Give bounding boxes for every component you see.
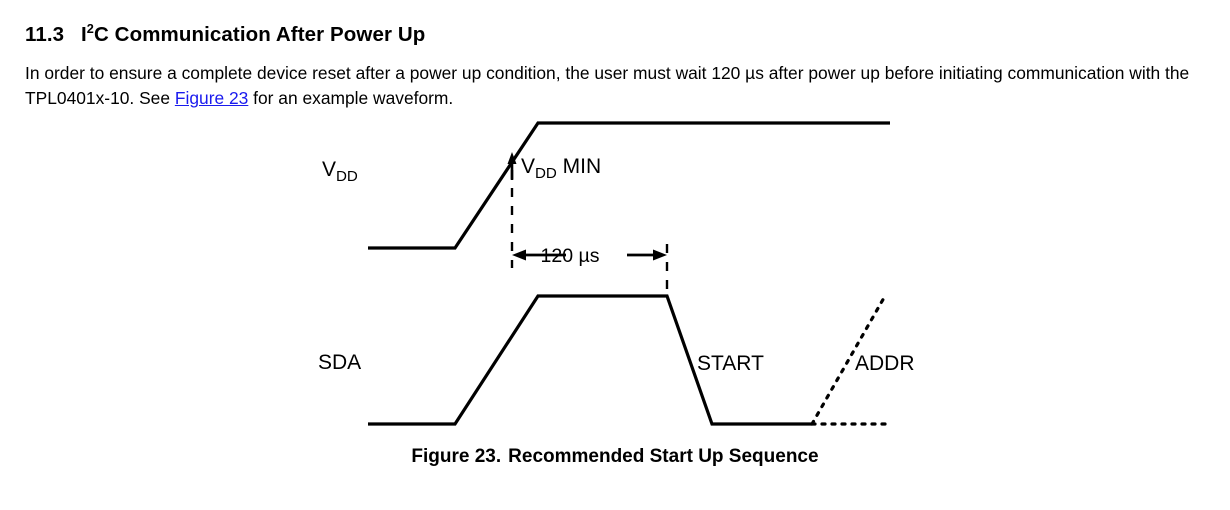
vdd-label-v: V (322, 158, 336, 181)
section-number: 11.3 (25, 23, 81, 47)
addr-label: ADDR (855, 352, 915, 375)
waveform-svg: VDD VDD MIN 120 µs SDA START ADDR (0, 100, 1230, 450)
vdd-waveform-trace (368, 123, 890, 248)
timing-label: 120 µs (541, 245, 600, 267)
sda-label: SDA (318, 351, 361, 374)
figure-caption: Figure 23.Recommended Start Up Sequence (0, 446, 1230, 468)
section-title-post: C Communication After Power Up (94, 23, 425, 46)
vdd-min-label-suffix: MIN (557, 155, 601, 178)
section-title-superscript: 2 (87, 21, 94, 36)
vdd-min-label-sub: DD (535, 165, 557, 182)
timing-unit: µs (578, 245, 599, 267)
start-label: START (697, 352, 764, 375)
datasheet-page: 11.3I2C Communication After Power Up In … (0, 0, 1230, 510)
vdd-label-sub: DD (336, 168, 358, 185)
vdd-min-label: VDD MIN (521, 155, 601, 182)
figure-caption-label: Figure 23. (411, 446, 501, 467)
vdd-label: VDD (322, 158, 358, 185)
figure-23-waveform: VDD VDD MIN 120 µs SDA START ADDR (0, 100, 1230, 450)
figure-caption-title: Recommended Start Up Sequence (508, 446, 818, 467)
section-heading: 11.3I2C Communication After Power Up (25, 23, 425, 47)
timing-value: 120 (541, 245, 579, 267)
vdd-min-label-v: V (521, 155, 535, 178)
